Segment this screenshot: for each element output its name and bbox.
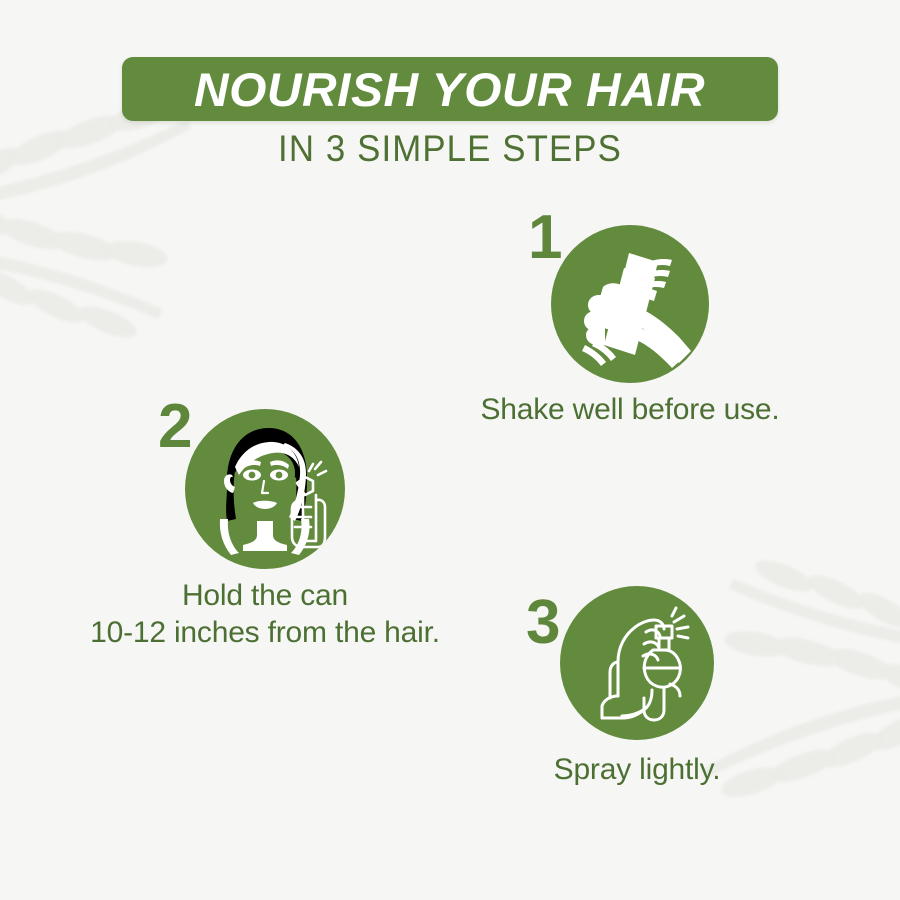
- step-1-icon-circle: [551, 225, 709, 383]
- title-badge: NOURISH YOUR HAIR: [122, 57, 778, 121]
- step-3-icon-circle: [560, 586, 714, 740]
- hand-shaking-spray-can-icon: [551, 225, 709, 383]
- step-1-number: 1: [528, 207, 561, 269]
- step-3-number: 3: [526, 592, 559, 654]
- poster-canvas: NOURISH YOUR HAIR IN 3 SIMPLE STEPS 1: [0, 0, 900, 900]
- step-3-caption: Spray lightly.: [417, 752, 857, 789]
- step-2-icon-circle: [185, 409, 345, 569]
- page-title: NOURISH YOUR HAIR: [194, 66, 705, 113]
- step-2-caption: Hold the can 10-12 inches from the hair.: [45, 578, 485, 651]
- hand-spraying-bottle-icon: [560, 586, 714, 740]
- step-1-caption: Shake well before use.: [410, 392, 850, 429]
- step-2-number: 2: [158, 396, 191, 458]
- woman-face-with-spray-bottle-icon: [185, 409, 345, 569]
- page-subtitle: IN 3 SIMPLE STEPS: [27, 130, 873, 167]
